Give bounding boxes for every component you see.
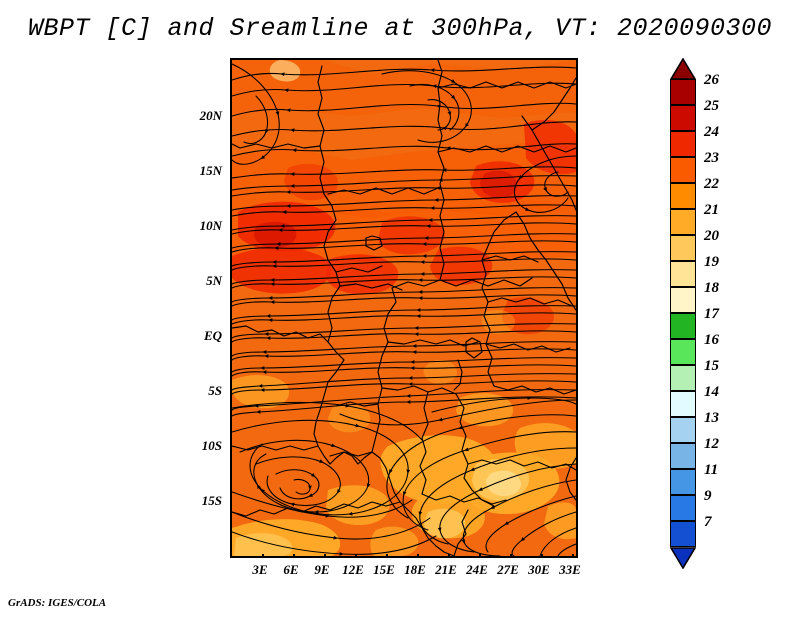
y-axis-label-15S: 15S [170,493,222,509]
y-axis-label-5N: 5N [170,273,222,289]
y-axis-label-20N: 20N [170,108,222,124]
colorbar-cell-17 [670,313,696,339]
x-tick-15E [386,554,388,558]
y-axis-label-EQ: EQ [170,328,222,344]
colorbar-cell-26 [670,79,696,105]
colorbar-label-7: 7 [704,515,712,530]
colorbar-extend-min-arrow [670,547,696,569]
x-tick-12E [355,554,357,558]
colorbar-cell-18 [670,287,696,313]
y-tick-15S [230,502,232,504]
map-plot-area [230,58,578,558]
x-axis-label-33E: 33E [550,562,590,578]
colorbar-cell-12 [670,443,696,469]
x-tick-33E [572,554,574,558]
colorbar-cell-13 [670,417,696,443]
colorbar-label-14: 14 [704,385,719,400]
x-tick-24E [479,554,481,558]
y-tick-20N [230,117,232,119]
colorbar-cell-14 [670,391,696,417]
colorbar-label-26: 26 [704,73,719,88]
y-tick-5N [230,282,232,284]
colorbar-cell-16 [670,339,696,365]
colorbar-cell-23 [670,157,696,183]
y-axis-label-10N: 10N [170,218,222,234]
colorbar-cell-15 [670,365,696,391]
colorbar-label-16: 16 [704,333,719,348]
colorbar-cell-11 [670,469,696,495]
colorbar-label-12: 12 [704,437,719,452]
colorbar-label-18: 18 [704,281,719,296]
wbpt-streamline-field [232,60,576,556]
y-axis-label-15N: 15N [170,163,222,179]
colorbar: 26 25 24 23 22 21 20 19 18 17 16 15 14 1… [670,58,790,568]
y-tick-10S [230,447,232,449]
colorbar-label-25: 25 [704,99,719,114]
x-tick-30E [541,554,543,558]
map-canvas [232,60,576,556]
colorbar-label-17: 17 [704,307,719,322]
colorbar-cell-20 [670,235,696,261]
page-title: WBPT [C] and Sreamline at 300hPa, VT: 20… [0,14,800,43]
x-tick-18E [417,554,419,558]
colorbar-label-9: 9 [704,489,712,504]
colorbar-cell-25 [670,105,696,131]
y-tick-5S [230,392,232,394]
colorbar-label-11: 11 [704,463,718,478]
colorbar-cell-19 [670,261,696,287]
y-tick-EQ [230,337,232,339]
y-tick-15N [230,172,232,174]
credit-text: GrADS: IGES/COLA [8,597,106,609]
colorbar-label-15: 15 [704,359,719,374]
colorbar-cell-24 [670,131,696,157]
colorbar-label-23: 23 [704,151,719,166]
x-tick-27E [510,554,512,558]
colorbar-cell-7 [670,521,696,547]
colorbar-cell-21 [670,209,696,235]
y-axis-label-5S: 5S [170,383,222,399]
colorbar-label-20: 20 [704,229,719,244]
x-tick-3E [262,554,264,558]
colorbar-label-21: 21 [704,203,719,218]
colorbar-cell-9 [670,495,696,521]
colorbar-cell-22 [670,183,696,209]
colorbar-extend-max-arrow [670,58,696,80]
y-axis-label-10S: 10S [170,438,222,454]
y-tick-10N [230,227,232,229]
x-tick-6E [293,554,295,558]
x-tick-21E [448,554,450,558]
colorbar-label-22: 22 [704,177,719,192]
x-tick-9E [324,554,326,558]
colorbar-label-13: 13 [704,411,719,426]
colorbar-label-19: 19 [704,255,719,270]
colorbar-label-24: 24 [704,125,719,140]
